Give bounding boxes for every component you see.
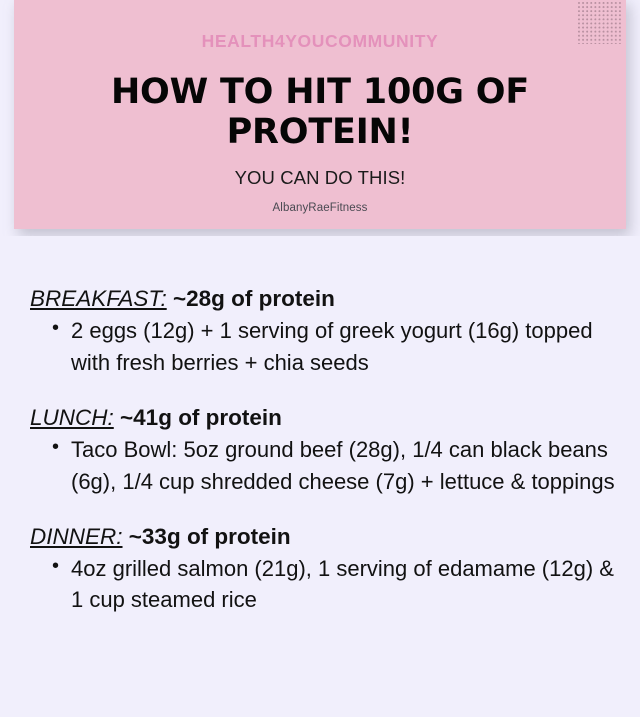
meal-label: DINNER: (30, 524, 123, 549)
header-card: HEALTH4YOUCOMMUNITY HOW TO HIT 100G OF P… (14, 0, 626, 229)
protein-guide-page: HEALTH4YOUCOMMUNITY HOW TO HIT 100G OF P… (0, 0, 640, 717)
list-item: 2 eggs (12g) + 1 serving of greek yogurt… (30, 315, 622, 377)
meal-protein-amount: ~33g of protein (129, 524, 291, 549)
meal-item-list: 4oz grilled salmon (21g), 1 serving of e… (30, 553, 622, 615)
meal-label: LUNCH: (30, 405, 114, 430)
author-handle: AlbanyRaeFitness (14, 202, 626, 214)
meal-section-lunch: LUNCH: ~41g of protein Taco Bowl: 5oz gr… (0, 404, 640, 497)
meal-item-list: 2 eggs (12g) + 1 serving of greek yogurt… (30, 315, 622, 377)
meal-protein-amount: ~28g of protein (173, 286, 335, 311)
meal-protein-amount: ~41g of protein (120, 405, 282, 430)
meal-section-dinner: DINNER: ~33g of protein 4oz grilled salm… (0, 523, 640, 616)
meal-plan-body: BREAKFAST: ~28g of protein 2 eggs (12g) … (0, 236, 640, 717)
meal-heading: LUNCH: ~41g of protein (30, 404, 622, 431)
meal-heading: DINNER: ~33g of protein (30, 523, 622, 550)
list-item: Taco Bowl: 5oz ground beef (28g), 1/4 ca… (30, 434, 622, 496)
meal-heading: BREAKFAST: ~28g of protein (30, 285, 622, 312)
brand-name: HEALTH4YOUCOMMUNITY (14, 31, 626, 52)
page-subtitle: YOU CAN DO THIS! (14, 167, 626, 189)
meal-section-breakfast: BREAKFAST: ~28g of protein 2 eggs (12g) … (0, 285, 640, 378)
meal-item-list: Taco Bowl: 5oz ground beef (28g), 1/4 ca… (30, 434, 622, 496)
meal-label: BREAKFAST: (30, 286, 167, 311)
list-item: 4oz grilled salmon (21g), 1 serving of e… (30, 553, 622, 615)
page-title: HOW TO HIT 100G OF PROTEIN! (50, 73, 590, 153)
